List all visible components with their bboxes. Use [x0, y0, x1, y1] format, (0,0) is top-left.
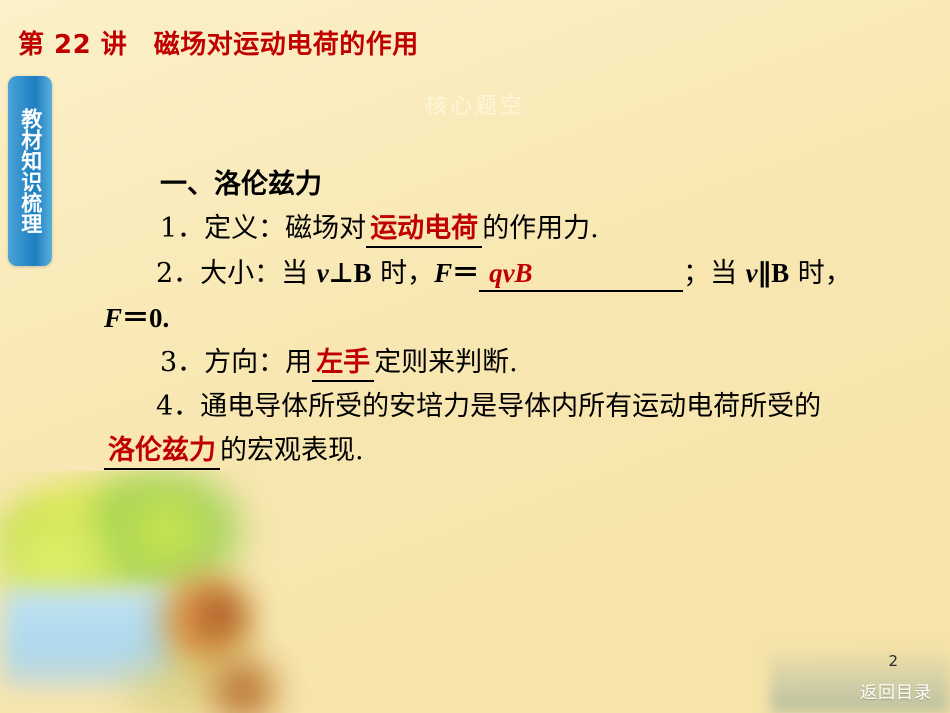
return-to-contents-button[interactable]: 返回目录 — [860, 678, 932, 703]
item2-symbol-f1: F — [434, 258, 452, 288]
item2-mid-2: ；当 — [683, 258, 737, 289]
item2-mid-1: 时， — [380, 258, 434, 289]
section-header: 核心题空 — [0, 88, 950, 120]
page-title: 第 22 讲 磁场对运动电荷的作用 — [18, 24, 419, 61]
slide-canvas: 第 22 讲 磁场对运动电荷的作用 教材知识梳理 核心题空 一、洛伦兹力 1．定… — [0, 0, 950, 713]
content-item-1: 1．定义：磁场对运动电荷的作用力. — [104, 207, 924, 251]
deco-foliage-2 — [85, 471, 245, 591]
item2-equals-1: ＝ — [452, 258, 479, 289]
deco-figure-1 — [160, 576, 250, 671]
sidebar-tab-label: 教材知识梳理 — [19, 108, 40, 234]
item2-symbol-b1: B — [353, 258, 371, 288]
content-heading: 一、洛伦兹力 — [104, 163, 924, 207]
item3-answer-blank[interactable]: 左手 — [312, 347, 374, 382]
item1-prefix: 1．定义：磁场对 — [160, 213, 366, 244]
item2-symbol-b2: B — [771, 258, 789, 288]
item1-suffix: 的作用力. — [482, 213, 599, 244]
content-item-2: 2．大小：当 v⊥B 时，F＝qvB；当 v∥B 时， — [104, 251, 924, 296]
item2-mid-3: 时， — [798, 258, 852, 289]
decorative-photo — [0, 471, 310, 713]
slide-body: 一、洛伦兹力 1．定义：磁场对运动电荷的作用力. 2．大小：当 v⊥B 时，F＝… — [104, 163, 924, 473]
item2-symbol-f2: F — [104, 303, 122, 333]
content-item-4: 4．通电导体所受的安培力是导体内所有运动电荷所受的洛伦兹力的宏观表现. — [104, 385, 924, 473]
parallel-icon: ∥ — [758, 258, 772, 289]
deco-figure-3 — [208, 656, 278, 713]
deco-ground — [110, 661, 240, 713]
item3-prefix: 3．方向：用 — [160, 347, 312, 378]
deco-foliage-3 — [0, 519, 120, 604]
content-item-2-continued: F＝0. — [104, 296, 924, 341]
item4-answer-blank[interactable]: 洛伦兹力 — [104, 435, 220, 470]
content-item-3: 3．方向：用左手定则来判断. — [104, 341, 924, 385]
deco-figure-2 — [195, 591, 243, 639]
page-number: 2 — [888, 652, 898, 670]
item2-prefix: 2．大小：当 — [156, 258, 308, 289]
deco-foliage-1 — [0, 481, 190, 586]
deco-blue-panel — [2, 589, 177, 687]
item3-suffix: 定则来判断. — [374, 347, 518, 378]
item2-symbol-v2: v — [746, 258, 758, 288]
item2-symbol-v1: v — [317, 258, 329, 288]
item2-answer-blank[interactable]: qvB — [479, 257, 683, 292]
item2-equals-2: ＝ — [122, 303, 149, 334]
perpendicular-icon: ⊥ — [329, 258, 354, 289]
item4-prefix: 4．通电导体所受的安培力是导体内所有运动电荷所受的 — [104, 391, 821, 422]
item4-suffix: 的宏观表现. — [220, 435, 364, 466]
item1-answer-blank[interactable]: 运动电荷 — [366, 213, 482, 248]
item2-zero-value: 0. — [149, 303, 169, 333]
